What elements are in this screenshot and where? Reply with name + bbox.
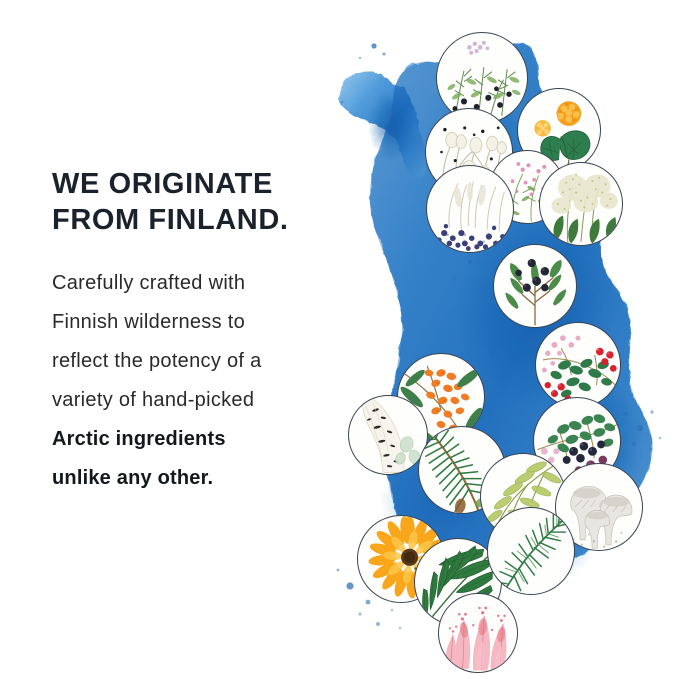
circle-juniper-berries [426, 165, 514, 253]
poster-canvas: WE ORIGINATE FROM FINLAND. Carefully cra… [0, 0, 679, 679]
text-panel: WE ORIGINATE FROM FINLAND. Carefully cra… [52, 166, 352, 498]
body-line-4: variety of hand-picked [52, 381, 352, 420]
page-title: WE ORIGINATE FROM FINLAND. [52, 166, 352, 238]
circle-meadowsweet [539, 162, 623, 246]
finland-map-graphic [330, 10, 679, 679]
circle-pink-willowherb [438, 593, 518, 673]
circle-lingonberry [535, 322, 621, 408]
body-line-3: reflect the potency of a [52, 342, 352, 381]
body-line-1: Carefully crafted with [52, 264, 352, 303]
body-copy: Carefully crafted with Finnish wildernes… [52, 264, 352, 498]
circle-spruce-tip [487, 507, 575, 595]
body-line-2: Finnish wilderness to [52, 303, 352, 342]
body-line-5: Arctic ingredients [52, 420, 352, 459]
circle-crowberry-spruce [493, 244, 577, 328]
body-line-6: unlike any other. [52, 459, 352, 498]
circle-birch-bark [348, 395, 428, 475]
